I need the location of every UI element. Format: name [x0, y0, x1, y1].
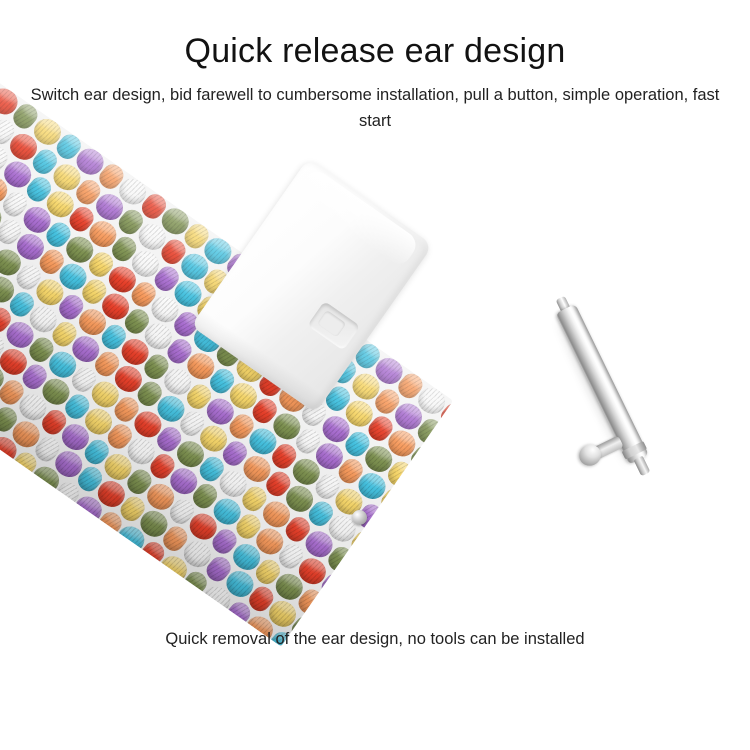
- page-title: Quick release ear design: [0, 33, 750, 70]
- spring-bar-tip-right: [634, 456, 651, 477]
- product-photo: [0, 150, 750, 620]
- weave-strand: [433, 429, 453, 464]
- weave-strand: [396, 530, 428, 563]
- weave-strand: [337, 584, 373, 619]
- weave-strand: [397, 499, 433, 534]
- band-pin-tip: [352, 510, 367, 525]
- lug-release-slot: [307, 301, 360, 351]
- spring-bar-pin: [550, 293, 656, 479]
- weave-strand: [314, 599, 350, 634]
- product-feature-image: Quick release ear design Switch ear desi…: [0, 0, 750, 750]
- page-subtitle: Switch ear design, bid farewell to cumbe…: [28, 82, 722, 134]
- photo-caption: Quick removal of the ear design, no tool…: [0, 630, 750, 649]
- spring-bar-shaft: [555, 304, 648, 465]
- weave-strand: [374, 514, 410, 549]
- weave-strand: [403, 471, 439, 506]
- weave-strand: [427, 456, 454, 491]
- weave-strand: [344, 557, 380, 592]
- weave-strand: [367, 541, 403, 576]
- weave-strand: [426, 487, 453, 520]
- lug-highlight: [294, 166, 421, 269]
- weave-strand: [367, 573, 399, 606]
- lug-release-slot-inner: [317, 310, 346, 338]
